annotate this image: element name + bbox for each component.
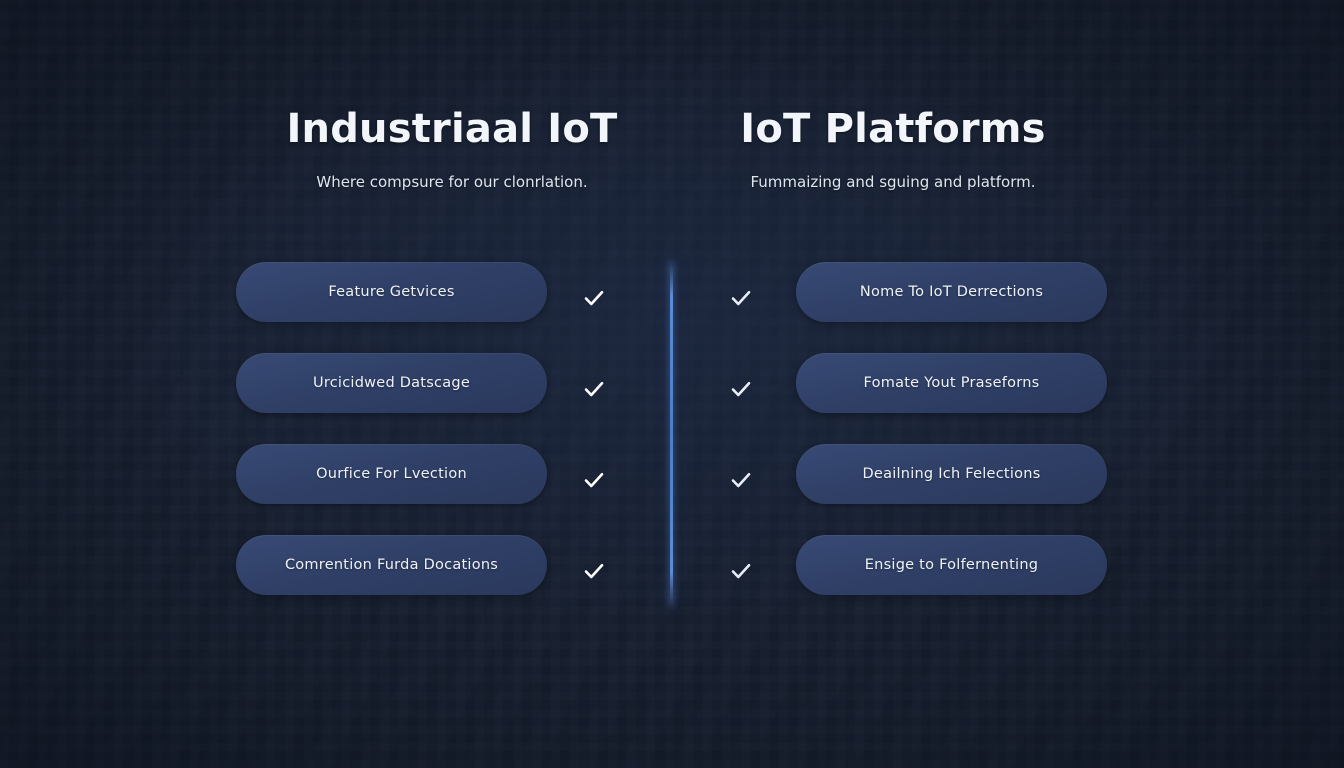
left-feature-label: Comrention Furda Docations [285, 557, 498, 573]
right-feature-label: Nome To IoT Derrections [860, 284, 1043, 300]
column-divider [670, 262, 673, 606]
check-icon [582, 286, 606, 310]
check-icon [729, 559, 753, 583]
comparison-stage: Industriaal IoT Where compsure for our c… [0, 0, 1344, 768]
left-feature-pill[interactable]: Urcicidwed Datscage [236, 353, 547, 413]
left-feature-label: Ourfice For Lvection [316, 466, 467, 482]
right-feature-label: Deailning Ich Felections [862, 466, 1040, 482]
left-column-subtitle: Where compsure for our clonrlation. [222, 173, 682, 193]
right-feature-label: Ensige to Folfernenting [865, 557, 1038, 573]
right-column-title: IoT Platforms [663, 106, 1123, 152]
check-icon [582, 468, 606, 492]
left-column-title: Industriaal IoT [222, 106, 682, 152]
left-feature-pill[interactable]: Feature Getvices [236, 262, 547, 322]
check-icon [729, 468, 753, 492]
left-feature-label: Feature Getvices [328, 284, 454, 300]
right-column-subtitle: Fummaizing and sguing and platform. [663, 173, 1123, 193]
check-icon [582, 377, 606, 401]
left-feature-pill[interactable]: Ourfice For Lvection [236, 444, 547, 504]
left-column-header: Industriaal IoT Where compsure for our c… [222, 106, 682, 193]
check-icon [729, 377, 753, 401]
left-feature-label: Urcicidwed Datscage [313, 375, 470, 391]
right-feature-label: Fomate Yout Praseforns [864, 375, 1040, 391]
right-feature-pill[interactable]: Deailning Ich Felections [796, 444, 1107, 504]
right-feature-pill[interactable]: Ensige to Folfernenting [796, 535, 1107, 595]
right-feature-pill[interactable]: Fomate Yout Praseforns [796, 353, 1107, 413]
right-column-header: IoT Platforms Fummaizing and sguing and … [663, 106, 1123, 193]
left-feature-pill[interactable]: Comrention Furda Docations [236, 535, 547, 595]
check-icon [729, 286, 753, 310]
check-icon [582, 559, 606, 583]
right-feature-pill[interactable]: Nome To IoT Derrections [796, 262, 1107, 322]
